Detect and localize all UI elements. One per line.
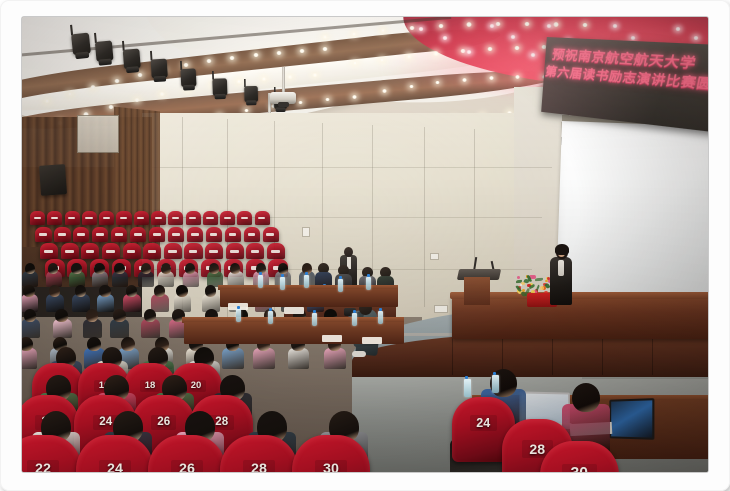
audience-torso <box>123 294 141 312</box>
speaker-shirt <box>558 260 564 276</box>
seat-number-tag <box>134 233 142 236</box>
audience-head <box>24 309 36 322</box>
seat-number: 20 <box>186 380 207 392</box>
seat-number-tag <box>229 233 237 236</box>
audience-torso <box>53 319 72 338</box>
audience-head <box>209 263 219 274</box>
audience-head <box>25 263 35 274</box>
speaker-hair <box>555 244 569 255</box>
seat-number-tag <box>148 250 157 253</box>
audience-head <box>94 263 104 274</box>
audience-head <box>154 285 165 297</box>
seat-number-tag <box>68 217 75 220</box>
audience-head <box>71 263 81 274</box>
water-bottle <box>352 313 357 326</box>
seat-number-tag <box>34 217 41 220</box>
auditorium-photo: 预祝南京航空航天大学 第六届读书励志演讲比赛圆满成功 <box>22 17 708 472</box>
water-bottle <box>492 375 499 393</box>
water-bottle <box>280 277 285 290</box>
seat-number: 30 <box>315 460 346 472</box>
audience-torso <box>253 348 274 369</box>
seat-number-tag <box>248 233 256 236</box>
screenshot-root: 预祝南京航空航天大学 第六届读书励志演讲比赛圆满成功 <box>0 0 730 491</box>
seat-number: 26 <box>171 460 202 472</box>
seat-number-tag <box>155 217 162 220</box>
audience-torso <box>288 348 309 369</box>
flower-bloom <box>540 286 544 290</box>
water-bottle <box>378 311 383 324</box>
water-bottle <box>304 275 309 288</box>
tech-crew-head <box>572 383 600 412</box>
audience-torso <box>22 348 37 369</box>
seat-number-tag <box>224 217 231 220</box>
water-bottle <box>366 277 371 290</box>
audience-head <box>22 337 33 351</box>
audience-head <box>176 285 187 297</box>
audience-head <box>144 309 156 322</box>
seat-number-tag <box>189 217 196 220</box>
seat-number-tag <box>189 250 198 253</box>
audience-head <box>126 285 137 297</box>
audience-seating: 14161820182426282224262830 <box>22 167 482 472</box>
seat-number-tag <box>168 250 177 253</box>
seat-number-tag <box>209 250 218 253</box>
water-bottle <box>236 309 241 322</box>
audience-head <box>141 263 151 274</box>
seat-number: 24 <box>99 460 130 472</box>
audience-head <box>75 285 86 297</box>
seat-number: 28 <box>243 460 274 472</box>
seat-number-tag <box>230 250 239 253</box>
seat-number-tag <box>191 233 199 236</box>
seat-number-tag <box>172 233 180 236</box>
seat-number-tag <box>210 233 218 236</box>
seat-number-tag <box>65 250 74 253</box>
audience-torso <box>72 294 90 312</box>
seat-number: 22 <box>27 460 58 472</box>
seat-number-tag <box>172 217 179 220</box>
water-bottle <box>268 311 273 324</box>
seat-number-tag <box>58 233 66 236</box>
audience-head <box>205 285 216 297</box>
seat-number-tag <box>106 250 115 253</box>
seat-number: 18 <box>140 380 161 392</box>
audience-head <box>49 285 60 297</box>
audience-head <box>161 263 171 274</box>
flower-bloom <box>517 276 520 279</box>
seat-number-tag <box>137 217 144 220</box>
audience-head <box>113 309 125 322</box>
audience-torso <box>138 271 154 287</box>
audience-torso <box>324 348 345 369</box>
seat-number-tag <box>86 250 95 253</box>
seat-number: 24 <box>470 415 498 431</box>
seat-number-tag <box>206 217 213 220</box>
seat-number-tag <box>127 250 136 253</box>
seat-number-tag <box>120 217 127 220</box>
audience-torso <box>151 294 169 312</box>
seat-number-tag <box>103 217 110 220</box>
seat-number-tag <box>258 217 265 220</box>
seat-number-tag <box>115 233 123 236</box>
seat-number-tag <box>96 233 104 236</box>
seat-number-tag <box>44 250 53 253</box>
seat-number-tag <box>39 233 47 236</box>
flower-leaf <box>535 278 543 281</box>
audience-head <box>23 285 34 297</box>
seat-number-tag <box>251 250 260 253</box>
audience-paper <box>284 307 304 314</box>
audience-torso <box>22 319 40 338</box>
seat-number-tag <box>266 233 274 236</box>
water-bottle <box>338 279 343 292</box>
water-bottle <box>258 275 263 288</box>
audience-head <box>185 263 195 274</box>
audience-torso <box>222 348 243 369</box>
seat-number-tag <box>85 217 92 220</box>
audience-head <box>87 337 101 351</box>
seat-number-tag <box>271 250 280 253</box>
stage-table <box>452 295 708 339</box>
water-bottle <box>464 379 471 397</box>
audience-head <box>121 337 135 351</box>
audience-head <box>48 263 58 274</box>
audience-head <box>86 309 98 322</box>
seat-number: 26 <box>151 415 176 430</box>
seat-number-tag <box>51 217 58 220</box>
audience-paper <box>362 337 382 344</box>
audience-head <box>230 263 240 274</box>
seat-number-tag <box>153 233 161 236</box>
audience-torso <box>83 319 102 338</box>
seat-number-tag <box>77 233 85 236</box>
water-bottle <box>312 313 317 326</box>
audience-torso <box>97 294 115 312</box>
audience-head <box>114 263 124 274</box>
audience-head <box>278 263 288 274</box>
audience-torso <box>112 271 128 287</box>
audience-torso <box>110 319 129 338</box>
audience-paper <box>322 335 342 342</box>
seat-number-tag <box>241 217 248 220</box>
audience-head <box>99 285 110 297</box>
audience-head <box>55 309 67 322</box>
audience-torso <box>141 319 160 338</box>
seat-number: 30 <box>562 464 597 472</box>
